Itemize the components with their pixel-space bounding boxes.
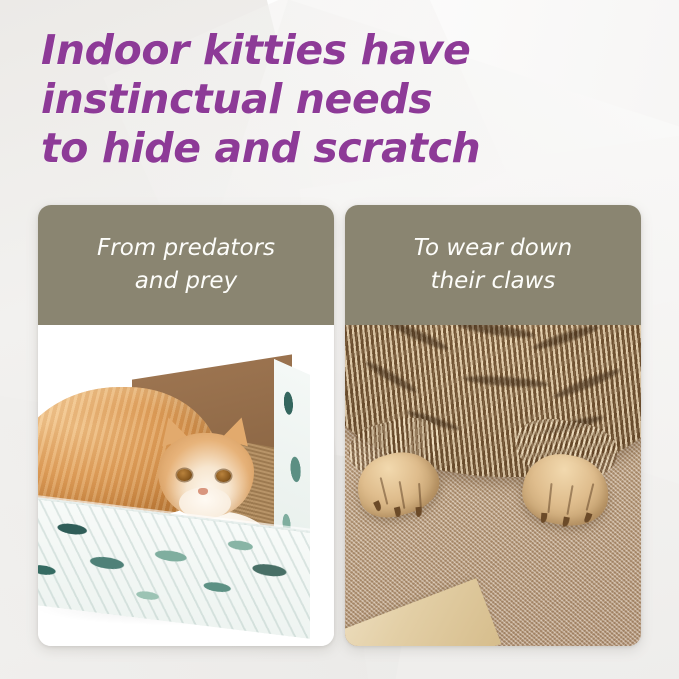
feature-card-predators: From predators and prey: [38, 205, 334, 646]
card-header-line-1: To wear down: [414, 235, 572, 261]
headline-line-2: instinctual needs: [41, 75, 601, 124]
card-header-text-claws: To wear down their claws: [414, 232, 572, 298]
photo-paws-on-scratcher: [345, 325, 641, 646]
headline-line-3: to hide and scratch: [41, 124, 601, 173]
cat-nose: [198, 488, 208, 495]
cat-eye-left: [177, 469, 192, 481]
feature-card-row: From predators and prey To wear dow: [38, 205, 642, 646]
photo-cat-in-box: [38, 325, 334, 646]
feature-card-claws: To wear down their claws: [345, 205, 641, 646]
headline-line-1: Indoor kitties have: [41, 26, 601, 75]
card-header-text-predators: From predators and prey: [97, 232, 275, 298]
headline: Indoor kitties have instinctual needs to…: [41, 26, 601, 173]
card-header-line-2: their claws: [431, 268, 556, 294]
card-header-predators: From predators and prey: [38, 205, 334, 325]
card-header-line-1: From predators: [97, 235, 275, 261]
cat-eye-right: [216, 470, 231, 482]
card-header-line-2: and prey: [135, 268, 237, 294]
card-header-claws: To wear down their claws: [345, 205, 641, 325]
